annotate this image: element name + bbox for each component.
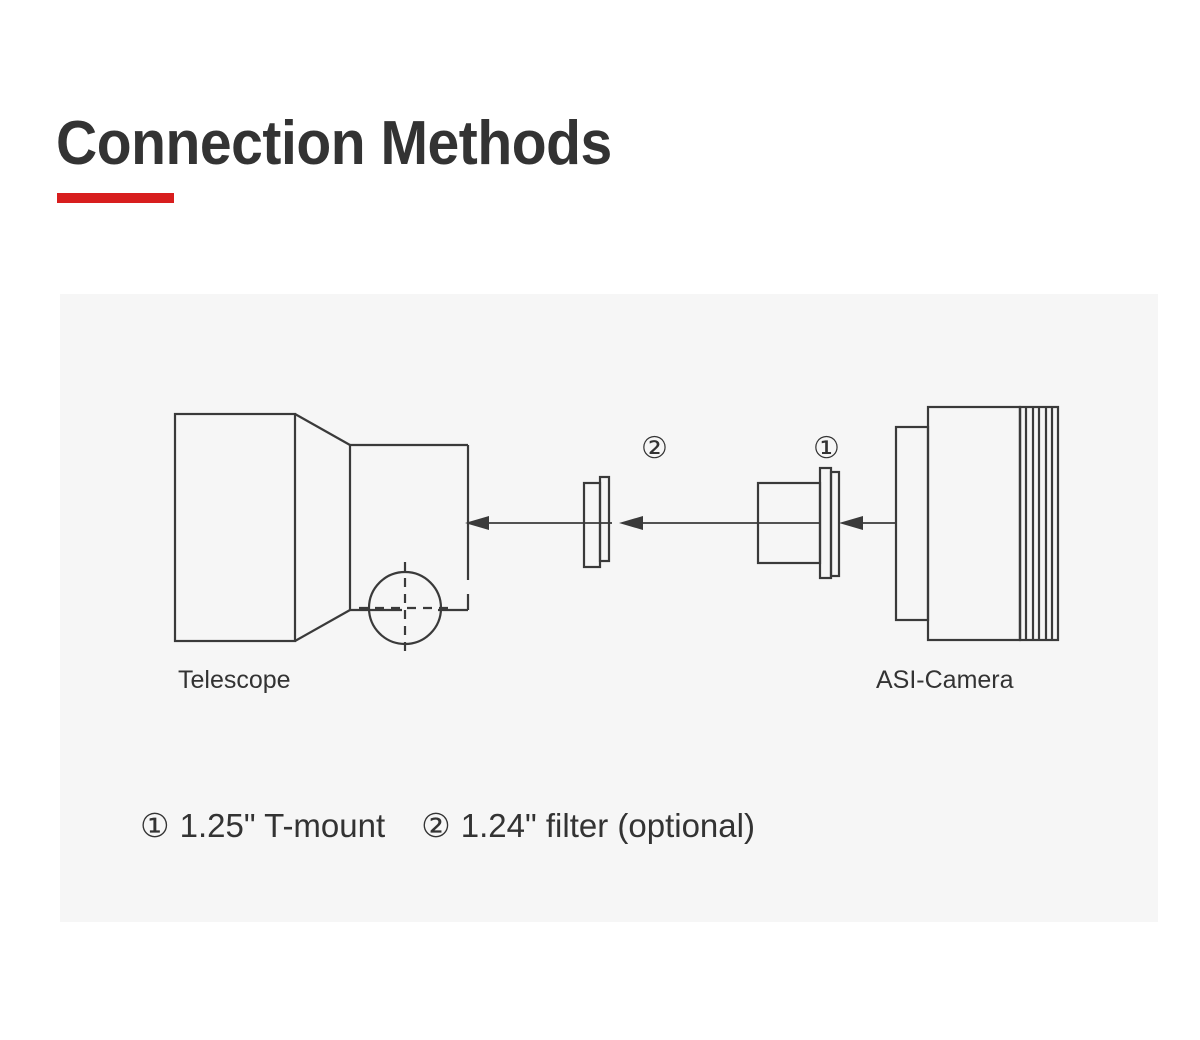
legend-item-filter: ② 1.24" filter (optional) [421,805,755,847]
marker-filter: ② [641,434,668,464]
connection-diagram-panel: ② ① Telescope ASI-Camera ① 1.25" T-mount… [60,294,1158,922]
camera-label: ASI-Camera [876,665,1014,695]
page-root: Connection Methods [0,0,1200,1040]
legend-text-t-mount: 1.25" T-mount [180,805,386,847]
arrow-camera-to-tmount [839,516,896,530]
title-accent-rule [57,193,174,203]
page-title: Connection Methods [56,105,612,183]
camera-icon [896,407,1058,640]
legend-marker-two-icon: ② [421,805,451,847]
marker-t-mount: ① [813,434,840,464]
arrow-filter-to-telescope [465,516,612,530]
legend-text-filter: 1.24" filter (optional) [461,805,755,847]
arrow-tmount-to-filter [619,516,820,530]
filter-icon [584,477,609,567]
telescope-icon [175,414,468,654]
legend-item-t-mount: ① 1.25" T-mount [140,805,385,847]
legend-marker-one-icon: ① [140,805,170,847]
telescope-label: Telescope [178,665,291,695]
legend: ① 1.25" T-mount ② 1.24" filter (optional… [140,805,755,847]
